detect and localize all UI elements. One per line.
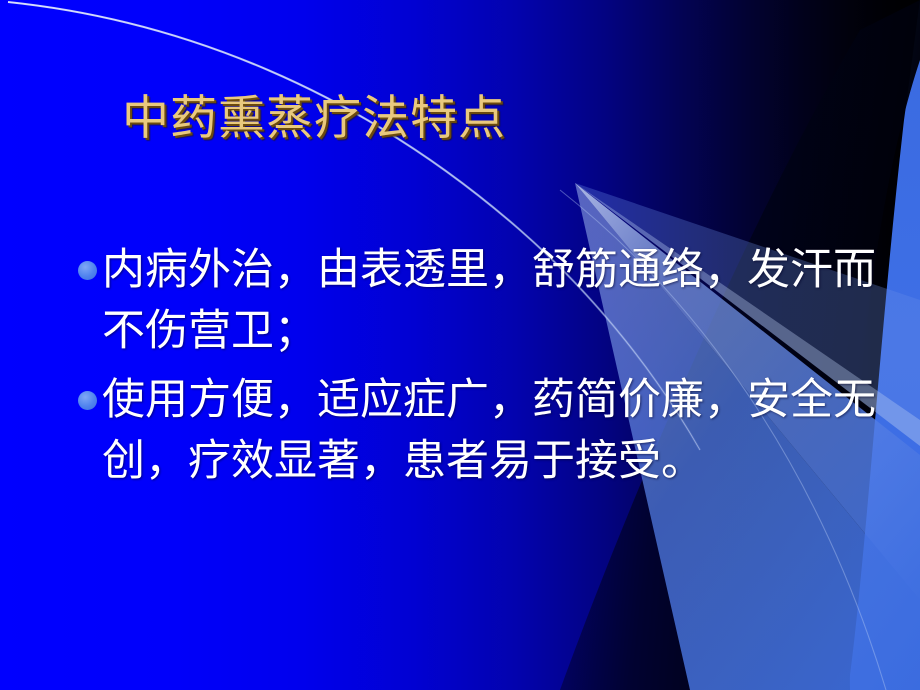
bullet-dot-icon — [78, 391, 97, 410]
bullet-list: 内病外治，由表透里，舒筋通络，发汗而不伤营卫； 使用方便，适应症广，药简价廉，安… — [78, 240, 908, 500]
list-item[interactable]: 内病外治，由表透里，舒筋通络，发汗而不伤营卫； — [78, 240, 908, 362]
list-item-text: 使用方便，适应症广，药简价廉，安全无创，疗效显著，患者易于接受。 — [102, 370, 908, 492]
slide-title: 中药熏蒸疗法特点 — [0, 92, 920, 147]
slide-content: 中药熏蒸疗法特点 内病外治，由表透里，舒筋通络，发汗而不伤营卫； 使用方便，适应… — [0, 0, 920, 690]
list-item[interactable]: 使用方便，适应症广，药简价廉，安全无创，疗效显著，患者易于接受。 — [78, 370, 908, 492]
bullet-dot-icon — [78, 261, 97, 280]
presentation-slide: 中药熏蒸疗法特点 内病外治，由表透里，舒筋通络，发汗而不伤营卫； 使用方便，适应… — [0, 0, 920, 690]
list-item-text: 内病外治，由表透里，舒筋通络，发汗而不伤营卫； — [102, 240, 908, 362]
